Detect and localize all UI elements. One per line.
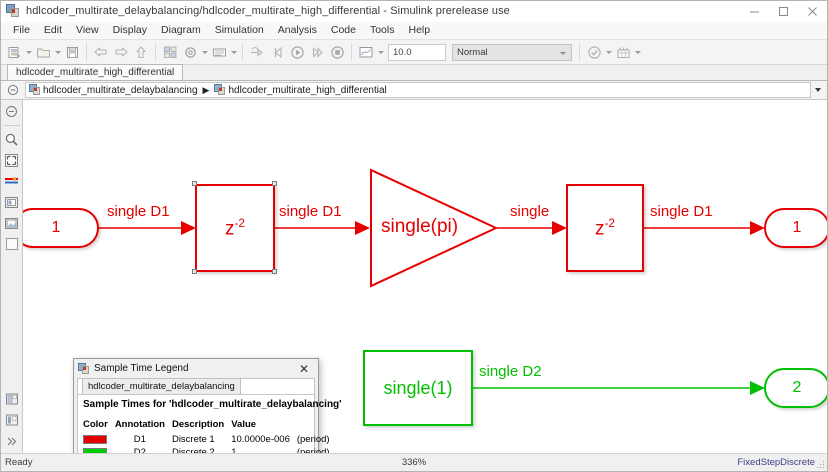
cell-value: 1 (231, 446, 297, 453)
table-row: D2 Discrete 2 1 (period) (83, 446, 337, 453)
stop-time-field[interactable]: 10.0 (388, 44, 446, 61)
sample-time-legend-icon (78, 363, 90, 375)
hide-explorer-bar-icon[interactable] (3, 102, 21, 120)
block-label: 2 (793, 379, 802, 397)
breadcrumb-item-subsystem[interactable]: hdlcoder_multirate_high_differential (228, 85, 386, 96)
breadcrumb-separator: ▶ (203, 85, 210, 96)
save-model-icon[interactable] (62, 42, 82, 62)
back-arrow-icon[interactable] (91, 42, 111, 62)
subsystem-icon (214, 84, 226, 96)
block-label: single(1) (383, 379, 452, 397)
dialog-tab-model[interactable]: hdlcoder_multirate_delaybalancing (82, 378, 241, 394)
scope-dropdown-icon[interactable] (376, 42, 385, 62)
cell-unit: (period) (297, 433, 337, 446)
editor-body: 1 z-2 single(pi) (1, 100, 827, 453)
simulink-model-icon (6, 4, 20, 18)
cell-description: Discrete 2 (172, 446, 231, 453)
minimize-button[interactable] (740, 1, 769, 22)
block-constant-1[interactable]: single(1) (363, 350, 473, 426)
block-delay-1[interactable]: z-2 (195, 184, 275, 272)
step-forward-icon[interactable] (307, 42, 327, 62)
menu-code[interactable]: Code (324, 22, 363, 39)
toolbar-group-model-tools (160, 40, 238, 64)
dialog-body: hdlcoder_multirate_delaybalancing Sample… (77, 378, 315, 453)
zoom-level: 336% (402, 457, 426, 468)
update-model-icon[interactable] (247, 42, 267, 62)
block-exponent: -2 (605, 217, 615, 230)
forward-arrow-icon[interactable] (111, 42, 131, 62)
toolbar-separator (86, 43, 87, 61)
menu-edit[interactable]: Edit (37, 22, 69, 39)
selection-handle[interactable] (272, 181, 277, 186)
breadcrumb-bar: hdlcoder_multirate_delaybalancing ▶ hdlc… (1, 81, 827, 100)
column-header-annotation: Annotation (115, 419, 172, 433)
new-model-icon[interactable] (4, 42, 24, 62)
toolbar-group-advisor (584, 40, 642, 64)
model-advisor-dropdown-icon[interactable] (604, 42, 613, 62)
sample-time-dropdown-icon[interactable] (633, 42, 642, 62)
column-header-value: Value (231, 419, 336, 433)
table-row: D1 Discrete 1 10.0000e-006 (period) (83, 433, 337, 446)
toolbar-group-simulation (247, 40, 347, 64)
block-gain-1[interactable]: single(pi) (369, 168, 499, 288)
up-arrow-icon[interactable] (131, 42, 151, 62)
table-header-row: Color Annotation Description Value (83, 419, 337, 433)
block-outport-2[interactable]: 2 (764, 368, 827, 408)
block-exponent: -2 (235, 217, 245, 230)
dialog-title-bar: Sample Time Legend ✕ (74, 359, 318, 378)
model-advisor-icon[interactable] (584, 42, 604, 62)
block-label: z-2 (595, 218, 615, 238)
toolbar-separator (155, 43, 156, 61)
menu-file[interactable]: File (6, 22, 37, 39)
library-browser-icon[interactable] (160, 42, 180, 62)
port-data-types-icon[interactable] (3, 193, 21, 211)
sample-time-colors-icon[interactable] (3, 172, 21, 190)
fast-restart-icon[interactable] (267, 42, 287, 62)
block-inport-1[interactable]: 1 (23, 208, 99, 248)
menu-help[interactable]: Help (401, 22, 437, 39)
maximize-button[interactable] (769, 1, 798, 22)
block-label: single(pi) (381, 217, 458, 236)
solver-name[interactable]: FixedStepDiscrete (737, 457, 823, 468)
breadcrumb-item-model[interactable]: hdlcoder_multirate_delaybalancing (43, 85, 198, 96)
model-browser-icon[interactable] (3, 390, 21, 408)
toolbar-group-file (4, 40, 82, 64)
canvas-sidebar (1, 100, 23, 453)
expand-panel-icon[interactable] (3, 432, 21, 450)
menu-analysis[interactable]: Analysis (271, 22, 324, 39)
new-model-dropdown-icon[interactable] (24, 42, 33, 62)
scope-icon[interactable] (356, 42, 376, 62)
model-canvas[interactable]: 1 z-2 single(pi) (23, 100, 827, 453)
sample-time-legend-dialog[interactable]: Sample Time Legend ✕ hdlcoder_multirate_… (73, 358, 319, 453)
blank-canvas-icon[interactable] (3, 235, 21, 253)
sample-time-table: Color Annotation Description Value D1 Di… (83, 419, 337, 453)
close-button[interactable] (798, 1, 827, 22)
model-tab-strip: hdlcoder_multirate_high_differential (1, 65, 827, 81)
selection-handle[interactable] (272, 269, 277, 274)
column-header-description: Description (172, 419, 231, 433)
close-icon[interactable]: ✕ (294, 360, 314, 377)
model-data-icon[interactable] (3, 411, 21, 429)
signal-label-3: single (510, 204, 549, 219)
cell-color (83, 446, 115, 453)
toolbar-separator (351, 43, 352, 61)
fit-to-view-icon[interactable] (3, 151, 21, 169)
toolbar-separator (242, 43, 243, 61)
dialog-tab-row: hdlcoder_multirate_delaybalancing (78, 379, 314, 395)
dialog-heading: Sample Times for 'hdlcoder_multirate_del… (78, 395, 314, 410)
toolbar-separator (579, 43, 580, 61)
cell-unit: (period) (297, 446, 337, 453)
simulink-window: hdlcoder_multirate_delaybalancing/hdlcod… (0, 0, 828, 472)
signal-label-2: single D1 (279, 204, 342, 219)
menu-tools[interactable]: Tools (363, 22, 402, 39)
menu-simulation[interactable]: Simulation (208, 22, 271, 39)
toolbar-group-run-settings: 10.0 Normal (356, 40, 575, 64)
dialog-title: Sample Time Legend (94, 363, 189, 374)
signal-label-5: single D2 (479, 364, 542, 379)
block-delay-2[interactable]: z-2 (566, 184, 644, 272)
cell-annotation: D1 (115, 433, 172, 446)
menu-view[interactable]: View (69, 22, 106, 39)
simulation-mode-select[interactable]: Normal (452, 44, 572, 61)
cell-description: Discrete 1 (172, 433, 231, 446)
block-label: z-2 (225, 218, 245, 238)
resize-grip-icon[interactable] (815, 459, 825, 469)
block-outport-1[interactable]: 1 (764, 208, 827, 248)
zoom-icon[interactable] (3, 130, 21, 148)
model-configuration-icon[interactable] (180, 42, 200, 62)
breadcrumb: hdlcoder_multirate_delaybalancing ▶ hdlc… (25, 82, 811, 98)
status-bar: Ready 336% FixedStepDiscrete (1, 453, 827, 471)
signal-label-4: single D1 (650, 204, 713, 219)
window-controls (740, 1, 827, 22)
cell-value: 10.0000e-006 (231, 433, 297, 446)
open-model-icon[interactable] (33, 42, 53, 62)
menu-diagram[interactable]: Diagram (154, 22, 208, 39)
tab-hdlcoder-multirate-high-differential[interactable]: hdlcoder_multirate_high_differential (7, 64, 183, 80)
model-configuration-dropdown-icon[interactable] (200, 42, 209, 62)
model-icon (29, 84, 41, 96)
menu-bar: File Edit View Display Diagram Simulatio… (1, 22, 827, 39)
cell-color (83, 433, 115, 446)
model-explorer-dropdown-icon[interactable] (229, 42, 238, 62)
cell-annotation: D2 (115, 446, 172, 453)
hide-breadcrumb-icon[interactable] (1, 84, 25, 96)
signal-label-1: single D1 (107, 204, 170, 219)
title-bar: hdlcoder_multirate_delaybalancing/hdlcod… (1, 1, 827, 22)
selection-handle[interactable] (192, 181, 197, 186)
column-header-color: Color (83, 419, 115, 433)
toolbar-group-navigation (91, 40, 151, 64)
stop-icon[interactable] (327, 42, 347, 62)
status-text: Ready (5, 457, 32, 468)
breadcrumb-dropdown-icon[interactable] (811, 88, 825, 92)
selection-handle[interactable] (192, 269, 197, 274)
window-title: hdlcoder_multirate_delaybalancing/hdlcod… (26, 5, 510, 17)
sample-time-legend-icon[interactable] (613, 42, 633, 62)
menu-display[interactable]: Display (106, 22, 154, 39)
block-label: 1 (52, 219, 61, 237)
sidebar-separator (4, 125, 20, 126)
open-model-dropdown-icon[interactable] (53, 42, 62, 62)
block-label: 1 (793, 219, 802, 237)
toolbar: 10.0 Normal (1, 39, 827, 65)
run-icon[interactable] (287, 42, 307, 62)
color-swatch-d1 (83, 435, 107, 444)
signal-dimensions-icon[interactable] (3, 214, 21, 232)
model-explorer-icon[interactable] (209, 42, 229, 62)
